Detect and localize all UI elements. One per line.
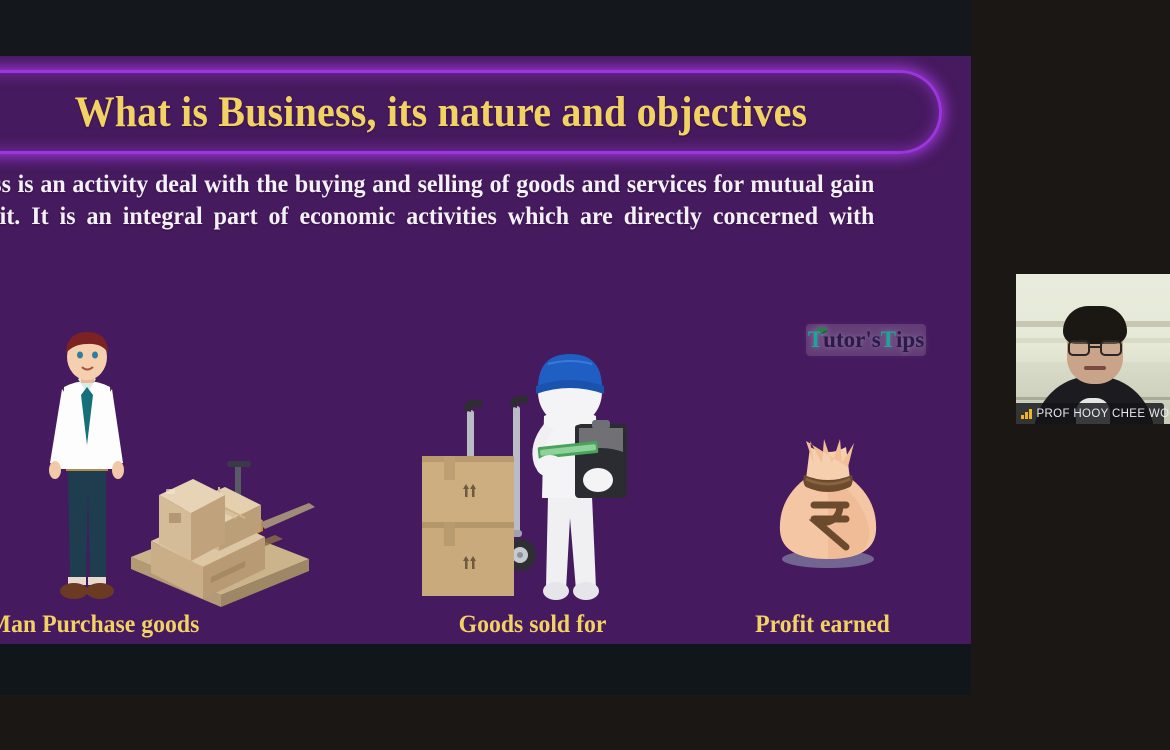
slide-title: What is Business, its nature and objecti… xyxy=(75,88,808,137)
participant-glasses xyxy=(1068,340,1122,356)
slide-title-box: What is Business, its nature and objecti… xyxy=(0,70,942,154)
letterbox-bottom xyxy=(0,644,971,695)
participant-video-tile[interactable]: PROF HOOY CHEE WOOI xyxy=(1016,274,1170,424)
glasses-bridge xyxy=(1090,346,1100,348)
boxes-on-pallet-illustration xyxy=(125,461,315,609)
glasses-lens-left xyxy=(1068,340,1090,356)
caption-label: Man Purchase goods xyxy=(0,611,199,638)
caption-amount: Rs 30,000 xyxy=(402,641,663,644)
caption-item: Man Purchase goods Rs 20,000 xyxy=(0,609,237,644)
audio-signal-bars-icon xyxy=(1021,408,1032,419)
businessman-illustration xyxy=(30,329,140,604)
presentation-slide: What is Business, its nature and objecti… xyxy=(0,56,971,644)
participant-hair xyxy=(1063,306,1127,344)
participant-name: PROF HOOY CHEE WOOI xyxy=(1037,408,1170,420)
letterbox-top xyxy=(0,0,971,56)
caption-amount: Rs 10,000 xyxy=(697,641,949,644)
glasses-lens-right xyxy=(1100,340,1122,356)
screen-share-view: What is Business, its nature and objecti… xyxy=(0,0,1170,750)
caption-label: Goods sold for xyxy=(459,611,607,638)
delivery-person-illustration xyxy=(420,348,645,600)
illustration-row xyxy=(0,256,971,596)
caption-item: Profit earned Rs 10,000 xyxy=(697,609,949,644)
caption-amount: Rs 20,000 xyxy=(0,641,237,644)
slide-body-text: Business is an activity deal with the bu… xyxy=(0,168,874,263)
caption-item: Goods sold for Rs 30,000 xyxy=(402,609,663,644)
caption-label: Profit earned xyxy=(755,611,890,638)
participant-name-strip: PROF HOOY CHEE WOOI xyxy=(1016,403,1164,424)
participant-mouth xyxy=(1084,366,1106,370)
money-bag-illustration xyxy=(770,431,885,571)
